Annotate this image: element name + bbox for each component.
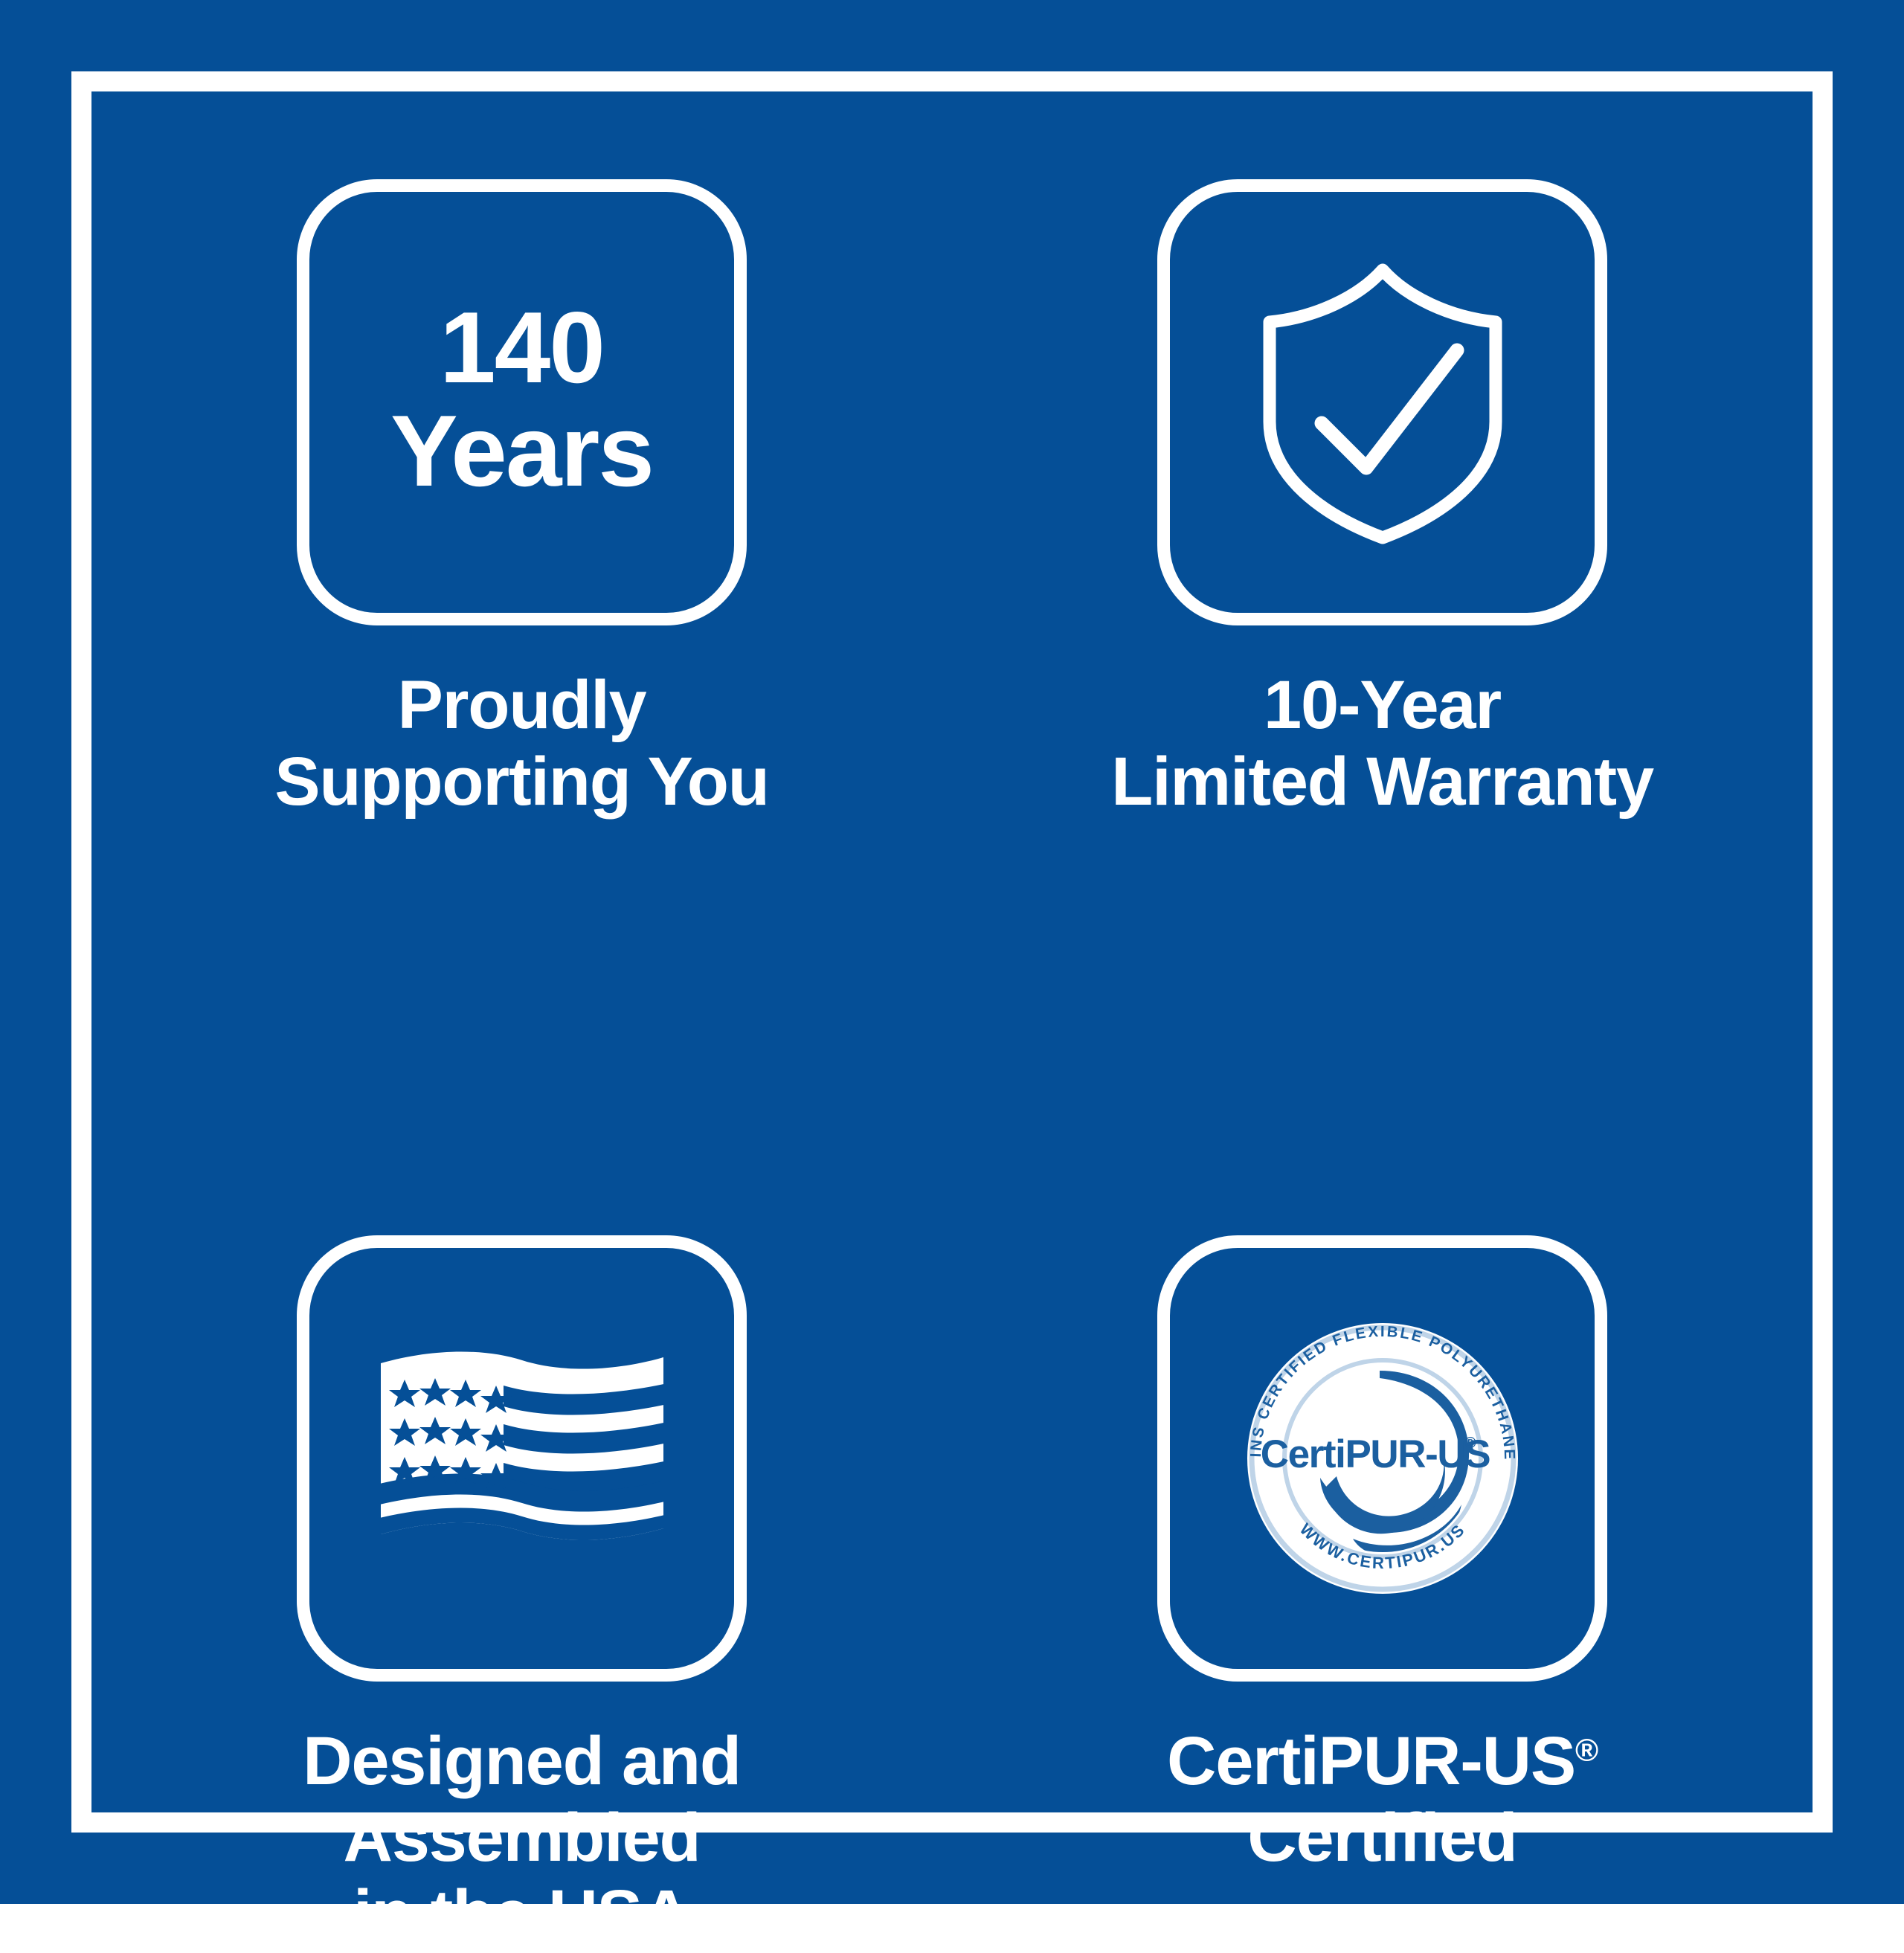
- certipur-icon-box: CONTAINS CERTIFIED FLEXIBLE POLYURETHANE…: [1157, 1235, 1607, 1682]
- warranty-caption: 10-Year Limited Warranty: [1111, 667, 1653, 820]
- caption-text: CertiPUR-US: [1167, 1723, 1575, 1799]
- caption-line: Certified: [1167, 1800, 1598, 1876]
- badge-years: 140 Years Proudly Supporting You: [91, 91, 952, 820]
- seal-center-registered-mark: ®: [1464, 1435, 1476, 1452]
- caption-line: Proudly: [274, 667, 769, 744]
- years-number: 140: [390, 296, 653, 399]
- caption-line: 10-Year: [1111, 667, 1653, 744]
- registered-mark-icon: ®: [1575, 1732, 1598, 1767]
- warranty-icon-box: [1157, 179, 1607, 625]
- certipur-caption: CertiPUR-US® Certified: [1167, 1723, 1598, 1876]
- 140-years-text-icon: 140 Years: [390, 296, 653, 502]
- usa-flag-icon: [373, 1347, 671, 1570]
- caption-line: Designed and: [303, 1723, 741, 1800]
- badge-warranty: 10-Year Limited Warranty: [952, 91, 1813, 820]
- usa-icon-box: [297, 1235, 747, 1682]
- years-icon-box: 140 Years: [297, 179, 747, 625]
- certipur-us-seal-icon: CONTAINS CERTIFIED FLEXIBLE POLYURETHANE…: [1234, 1310, 1531, 1607]
- years-caption: Proudly Supporting You: [274, 667, 769, 820]
- promo-poster: 140 Years Proudly Supporting You 10-Y: [0, 0, 1904, 1904]
- badge-usa: Designed and Assembled in the USA: [91, 820, 952, 1953]
- years-word: Years: [390, 399, 653, 503]
- caption-line: Assembled: [303, 1800, 741, 1876]
- seal-center-text: CertiPUR-US: [1260, 1432, 1490, 1476]
- usa-caption: Designed and Assembled in the USA: [303, 1723, 741, 1953]
- caption-line: CertiPUR-US®: [1167, 1723, 1598, 1800]
- badge-certipur: CONTAINS CERTIFIED FLEXIBLE POLYURETHANE…: [952, 820, 1813, 1953]
- feature-badge-grid: 140 Years Proudly Supporting You 10-Y: [91, 91, 1813, 1812]
- shield-check-icon: [1234, 254, 1531, 551]
- caption-line: Supporting You: [274, 744, 769, 820]
- caption-line: Limited Warranty: [1111, 744, 1653, 820]
- caption-line: in the USA: [303, 1876, 741, 1953]
